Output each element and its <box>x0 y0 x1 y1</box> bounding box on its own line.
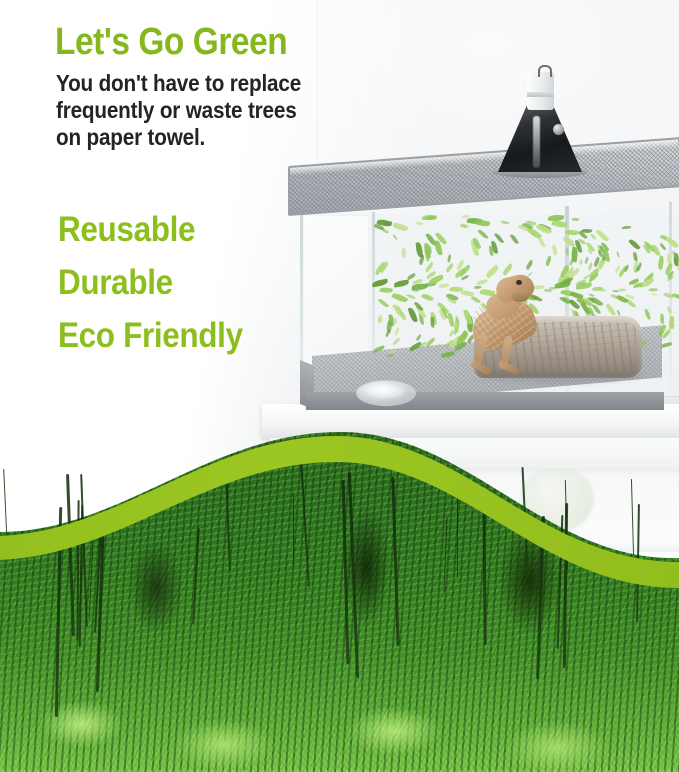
subcopy-line-3: on paper towel. <box>56 124 326 151</box>
feature-item-eco-friendly: Eco Friendly <box>58 309 243 362</box>
feature-item-durable: Durable <box>58 256 243 309</box>
tree-trunk <box>631 479 634 555</box>
feature-list: Reusable Durable Eco Friendly <box>58 203 263 362</box>
copy-block: Let's Go Green You don't have to replace… <box>0 0 679 430</box>
subcopy-line-1: You don't have to replace <box>56 70 326 97</box>
feature-item-reusable: Reusable <box>58 203 243 256</box>
marketing-banner: Let's Go Green You don't have to replace… <box>0 0 679 772</box>
subcopy-line-2: frequently or waste trees <box>56 97 326 124</box>
tree-trunk <box>293 494 294 567</box>
page-title: Let's Go Green <box>55 22 287 62</box>
subcopy: You don't have to replace frequently or … <box>56 70 326 151</box>
footer-forest-section <box>0 430 679 772</box>
